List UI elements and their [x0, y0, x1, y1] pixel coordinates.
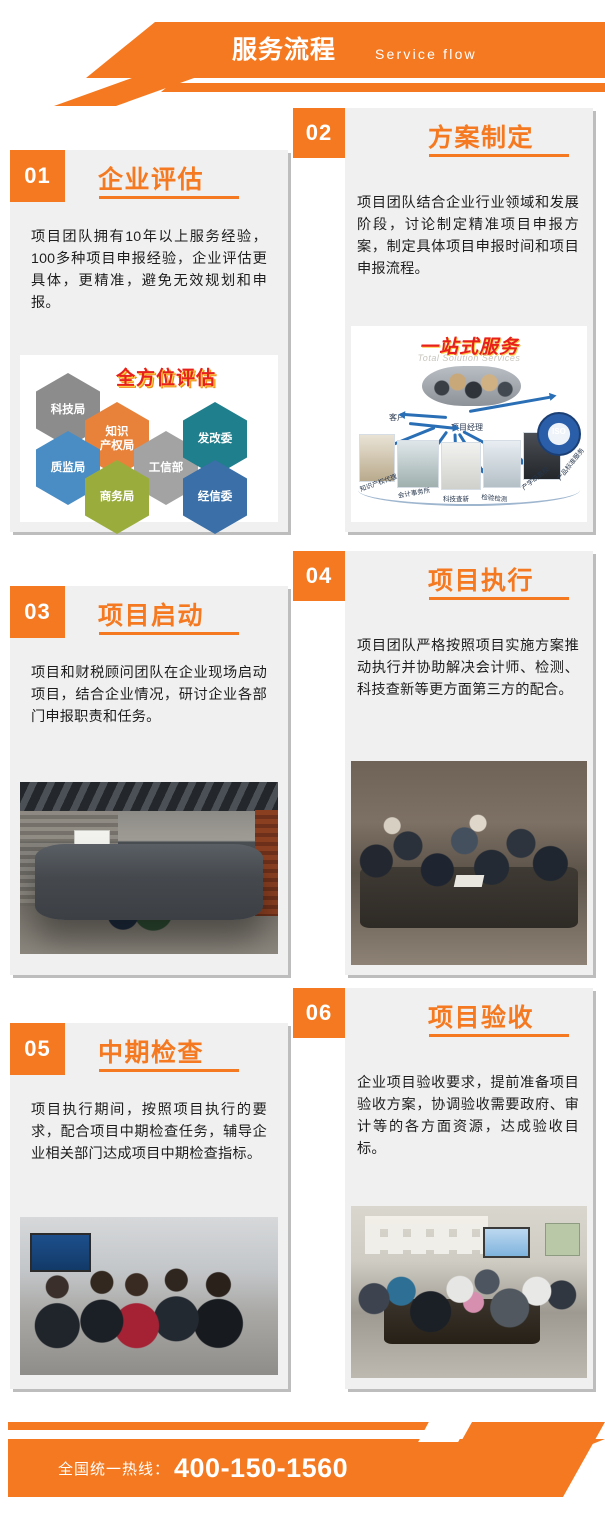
- photo-wall-wood: [255, 810, 278, 917]
- service-flow-infographic: 服务流程 Service flow 01 企业评估 项目团队拥有10年以上服务经…: [0, 0, 605, 1538]
- card-title: 方案制定: [428, 118, 534, 154]
- step-number-badge: 02: [293, 108, 345, 158]
- team-photo-thumb: [422, 366, 521, 406]
- header-band-tail: [54, 78, 194, 106]
- card-body-text: 项目执行期间，按照项目执行的要求，配合项目中期检查任务，辅导企业相关部门达成项目…: [31, 1099, 267, 1165]
- photo-certificates: [365, 1216, 488, 1254]
- card-body-text: 项目团队拥有10年以上服务经验，100多种项目申报经验，企业评估更具体，更精准，…: [31, 226, 267, 314]
- arrow-to-customer: [403, 413, 447, 419]
- step-number-badge: 04: [293, 551, 345, 601]
- card-body-text: 项目和财税顾问团队在企业现场启动项目，结合企业情况，研讨企业各部门申报职责和任务…: [31, 662, 267, 728]
- page-footer: 全国统一热线： 400-150-1560: [0, 1422, 605, 1512]
- photo-people: [356, 798, 583, 924]
- acceptance-meeting-photo: [351, 1206, 587, 1378]
- step-card-01: 01 企业评估 项目团队拥有10年以上服务经验，100多种项目申报经验，企业评估…: [10, 150, 288, 532]
- step-card-04: 04 项目执行 项目团队严格按照项目实施方案推动执行并协助解决会计师、检测、科技…: [293, 551, 593, 975]
- title-underline: [99, 1069, 239, 1072]
- photo-document: [454, 875, 485, 887]
- title-underline: [99, 632, 239, 635]
- step-number-badge: 06: [293, 988, 345, 1038]
- office-lobby-photo: [20, 1217, 278, 1375]
- photo-people: [25, 1255, 273, 1369]
- title-underline: [99, 196, 239, 199]
- title-underline: [429, 597, 569, 600]
- step-number-badge: 05: [10, 1023, 65, 1075]
- conference-discussion-photo: [351, 761, 587, 965]
- card-body-text: 项目团队结合企业行业领域和发展阶段，讨论制定精准项目申报方案，制定具体项目申报时…: [357, 192, 579, 280]
- step-card-06: 06 项目验收 企业项目验收要求，提前准备项目验收方案，协调验收需要政府、审计等…: [293, 988, 593, 1389]
- photo-people: [41, 861, 258, 937]
- iso-seal-text: ISO: [539, 427, 579, 436]
- hex-diagram-title: 全方位评估: [116, 363, 216, 390]
- page-subtitle: Service flow: [375, 40, 477, 68]
- card-title: 项目验收: [428, 998, 534, 1034]
- step-card-02: 02 方案制定 项目团队结合企业行业领域和发展阶段，讨论制定精准项目申报方案，制…: [293, 108, 593, 532]
- step-number-badge: 03: [10, 586, 65, 638]
- card-title: 项目执行: [428, 561, 534, 597]
- hotline-block: 全国统一热线： 400-150-1560: [58, 1439, 348, 1497]
- diagram-baseline: [358, 474, 580, 506]
- one-stop-service-diagram: 一站式服务 Total Solution Services 客户 项目经理 IS…: [351, 326, 587, 522]
- photo-whiteboard: [74, 830, 110, 856]
- step-card-03: 03 项目启动 项目和财税顾问团队在企业现场启动项目，结合企业情况，研讨企业各部…: [10, 586, 288, 975]
- hotline-number: 400-150-1560: [174, 1453, 348, 1484]
- page-header: 服务流程 Service flow: [0, 0, 605, 106]
- photo-people: [356, 1254, 583, 1347]
- card-title: 中期检查: [98, 1033, 204, 1069]
- card-body-text: 项目团队严格按照项目实施方案推动执行并协助解决会计师、检测、科技查新等更方面第三…: [357, 635, 579, 701]
- meeting-room-photo: [20, 782, 278, 954]
- hotline-label: 全国统一热线：: [58, 1458, 170, 1479]
- card-body-text: 企业项目验收要求，提前准备项目验收方案，协调验收需要政府、审计等的各方面资源，达…: [357, 1072, 579, 1160]
- card-title: 项目启动: [98, 596, 204, 632]
- photo-wall-texture: [20, 811, 118, 906]
- photo-green-board: [545, 1223, 580, 1256]
- step-card-05: 05 中期检查 项目执行期间，按照项目执行的要求，配合项目中期检查任务，辅导企业…: [10, 1023, 288, 1389]
- card-title: 企业评估: [98, 160, 204, 196]
- page-title: 服务流程: [232, 30, 336, 70]
- title-underline: [429, 154, 569, 157]
- hexagon-assessment-diagram: 全方位评估 科技局 知识 产权局 质监局 工信部 商务局 发改委 经信委: [20, 355, 278, 522]
- one-stop-subtitle: Total Solution Services: [351, 353, 587, 363]
- title-underline: [429, 1034, 569, 1037]
- header-stripe: [0, 83, 605, 92]
- step-number-badge: 01: [10, 150, 65, 202]
